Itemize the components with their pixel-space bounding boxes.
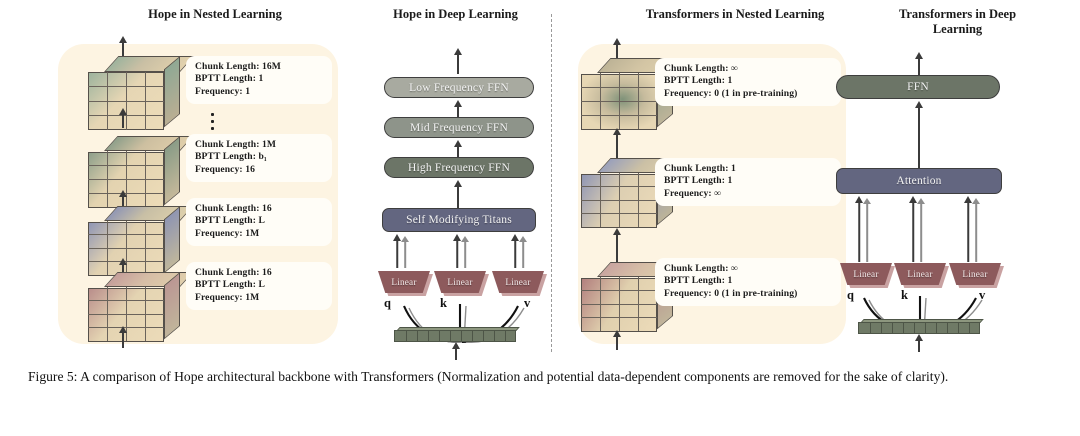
cube-hope-nested-4 <box>88 272 180 342</box>
linear-label: Linear <box>907 269 932 279</box>
column-title-hope-nested: Hope in Nested Learning <box>110 7 320 22</box>
card-chunk-length: Chunk Length: 1M <box>195 139 324 151</box>
card-frequency: Frequency: 0 (1 in pre-training) <box>664 288 833 300</box>
card-chunk-length: Chunk Length: 1 <box>664 163 833 175</box>
arrow-input-transformers <box>913 334 924 352</box>
arrow-out-transformers-deep <box>913 52 924 76</box>
card-chunk-length: Chunk Length: 16 <box>195 267 324 279</box>
card-transformers-nested-1: Chunk Length: ∞ BPTT Length: 1 Frequency… <box>655 58 841 106</box>
column-title-transformers-deep-line1: Transformers in Deep <box>855 7 1060 22</box>
card-chunk-length: Chunk Length: ∞ <box>664 63 833 75</box>
pill-low-frequency-ffn[interactable]: Low Frequency FFN <box>384 77 534 98</box>
linear-label: Linear <box>505 277 530 287</box>
card-hope-nested-1: Chunk Length: 16M BPTT Length: 1 Frequen… <box>186 56 332 104</box>
figure-canvas: Hope in Nested Learning Chunk Length: 16… <box>0 0 1080 360</box>
cube-hope-nested-1 <box>88 56 180 130</box>
arrow-input-hope <box>450 342 461 360</box>
card-chunk-length: Chunk Length: ∞ <box>664 263 833 275</box>
pill-attention[interactable]: Attention <box>836 168 1002 194</box>
card-hope-nested-4: Chunk Length: 16 BPTT Length: L Frequenc… <box>186 262 332 310</box>
card-bptt-length: BPTT Length: 1 <box>664 175 833 187</box>
arrow-hope-nested-1 <box>117 108 128 128</box>
card-frequency: Frequency: 16 <box>195 164 324 176</box>
card-frequency: Frequency: 1 <box>195 86 324 98</box>
arrow-titans-to-high <box>452 180 463 208</box>
input-bar-transformers <box>858 322 980 334</box>
arrow-k-shadow <box>460 236 470 268</box>
arrow-high-to-mid <box>452 140 463 158</box>
arrow-out-hope-nested <box>117 36 128 58</box>
card-frequency: Frequency: 1M <box>195 228 324 240</box>
card-bptt-length: BPTT Length: 1 <box>664 75 833 87</box>
pill-high-frequency-ffn[interactable]: High Frequency FFN <box>384 157 534 178</box>
arrow-k-shadow-2 <box>916 198 926 262</box>
arrow-attention-to-ffn <box>913 101 924 169</box>
card-bptt-length: BPTT Length: L <box>195 279 324 291</box>
cube-hope-nested-3 <box>88 206 180 276</box>
arrow-transformers-nested-1 <box>611 128 622 162</box>
figure-caption: Figure 5: A comparison of Hope architect… <box>28 366 1056 387</box>
arrow-mid-to-low <box>452 100 463 118</box>
arrow-q-shadow <box>400 236 410 268</box>
pill-ffn[interactable]: FFN <box>836 75 1000 99</box>
linear-label: Linear <box>447 277 472 287</box>
card-bptt-length: BPTT Length: b₁ <box>195 151 324 163</box>
card-chunk-length: Chunk Length: 16 <box>195 203 324 215</box>
card-hope-nested-3: Chunk Length: 16 BPTT Length: L Frequenc… <box>186 198 332 246</box>
card-transformers-nested-2: Chunk Length: 1 BPTT Length: 1 Frequency… <box>655 158 841 206</box>
card-frequency: Frequency: ∞ <box>664 188 833 200</box>
card-bptt-length: BPTT Length: L <box>195 215 324 227</box>
arrow-v-shadow-2 <box>971 198 981 262</box>
input-bar-hope <box>394 330 516 342</box>
pill-mid-frequency-ffn[interactable]: Mid Frequency FFN <box>384 117 534 138</box>
card-transformers-nested-3: Chunk Length: ∞ BPTT Length: 1 Frequency… <box>655 258 841 306</box>
card-chunk-length: Chunk Length: 16M <box>195 61 324 73</box>
linear-label: Linear <box>853 269 878 279</box>
card-bptt-length: BPTT Length: 1 <box>195 73 324 85</box>
column-title-transformers-deep-line2: Learning <box>855 22 1060 37</box>
section-divider <box>551 14 552 352</box>
arrow-in-hope-nested <box>117 326 128 348</box>
arrow-in-transformers-nested <box>611 330 622 350</box>
column-title-transformers-nested: Transformers in Nested Learning <box>600 7 870 22</box>
pill-self-modifying-titans[interactable]: Self Modifying Titans <box>382 208 536 232</box>
card-bptt-length: BPTT Length: 1 <box>664 275 833 287</box>
arrow-q-shadow-2 <box>862 198 872 262</box>
card-frequency: Frequency: 1M <box>195 292 324 304</box>
card-frequency: Frequency: 0 (1 in pre-training) <box>664 88 833 100</box>
arrow-out-hope-deep <box>452 48 463 74</box>
linear-label: Linear <box>962 269 987 279</box>
column-title-hope-deep: Hope in Deep Learning <box>368 7 543 22</box>
arrow-out-transformers-nested <box>611 38 622 60</box>
ellipsis-hope-nested <box>211 113 214 134</box>
card-hope-nested-2: Chunk Length: 1M BPTT Length: b₁ Frequen… <box>186 134 332 182</box>
linear-label: Linear <box>391 277 416 287</box>
arrow-v-shadow <box>518 236 528 268</box>
cube-hope-nested-2 <box>88 136 180 208</box>
